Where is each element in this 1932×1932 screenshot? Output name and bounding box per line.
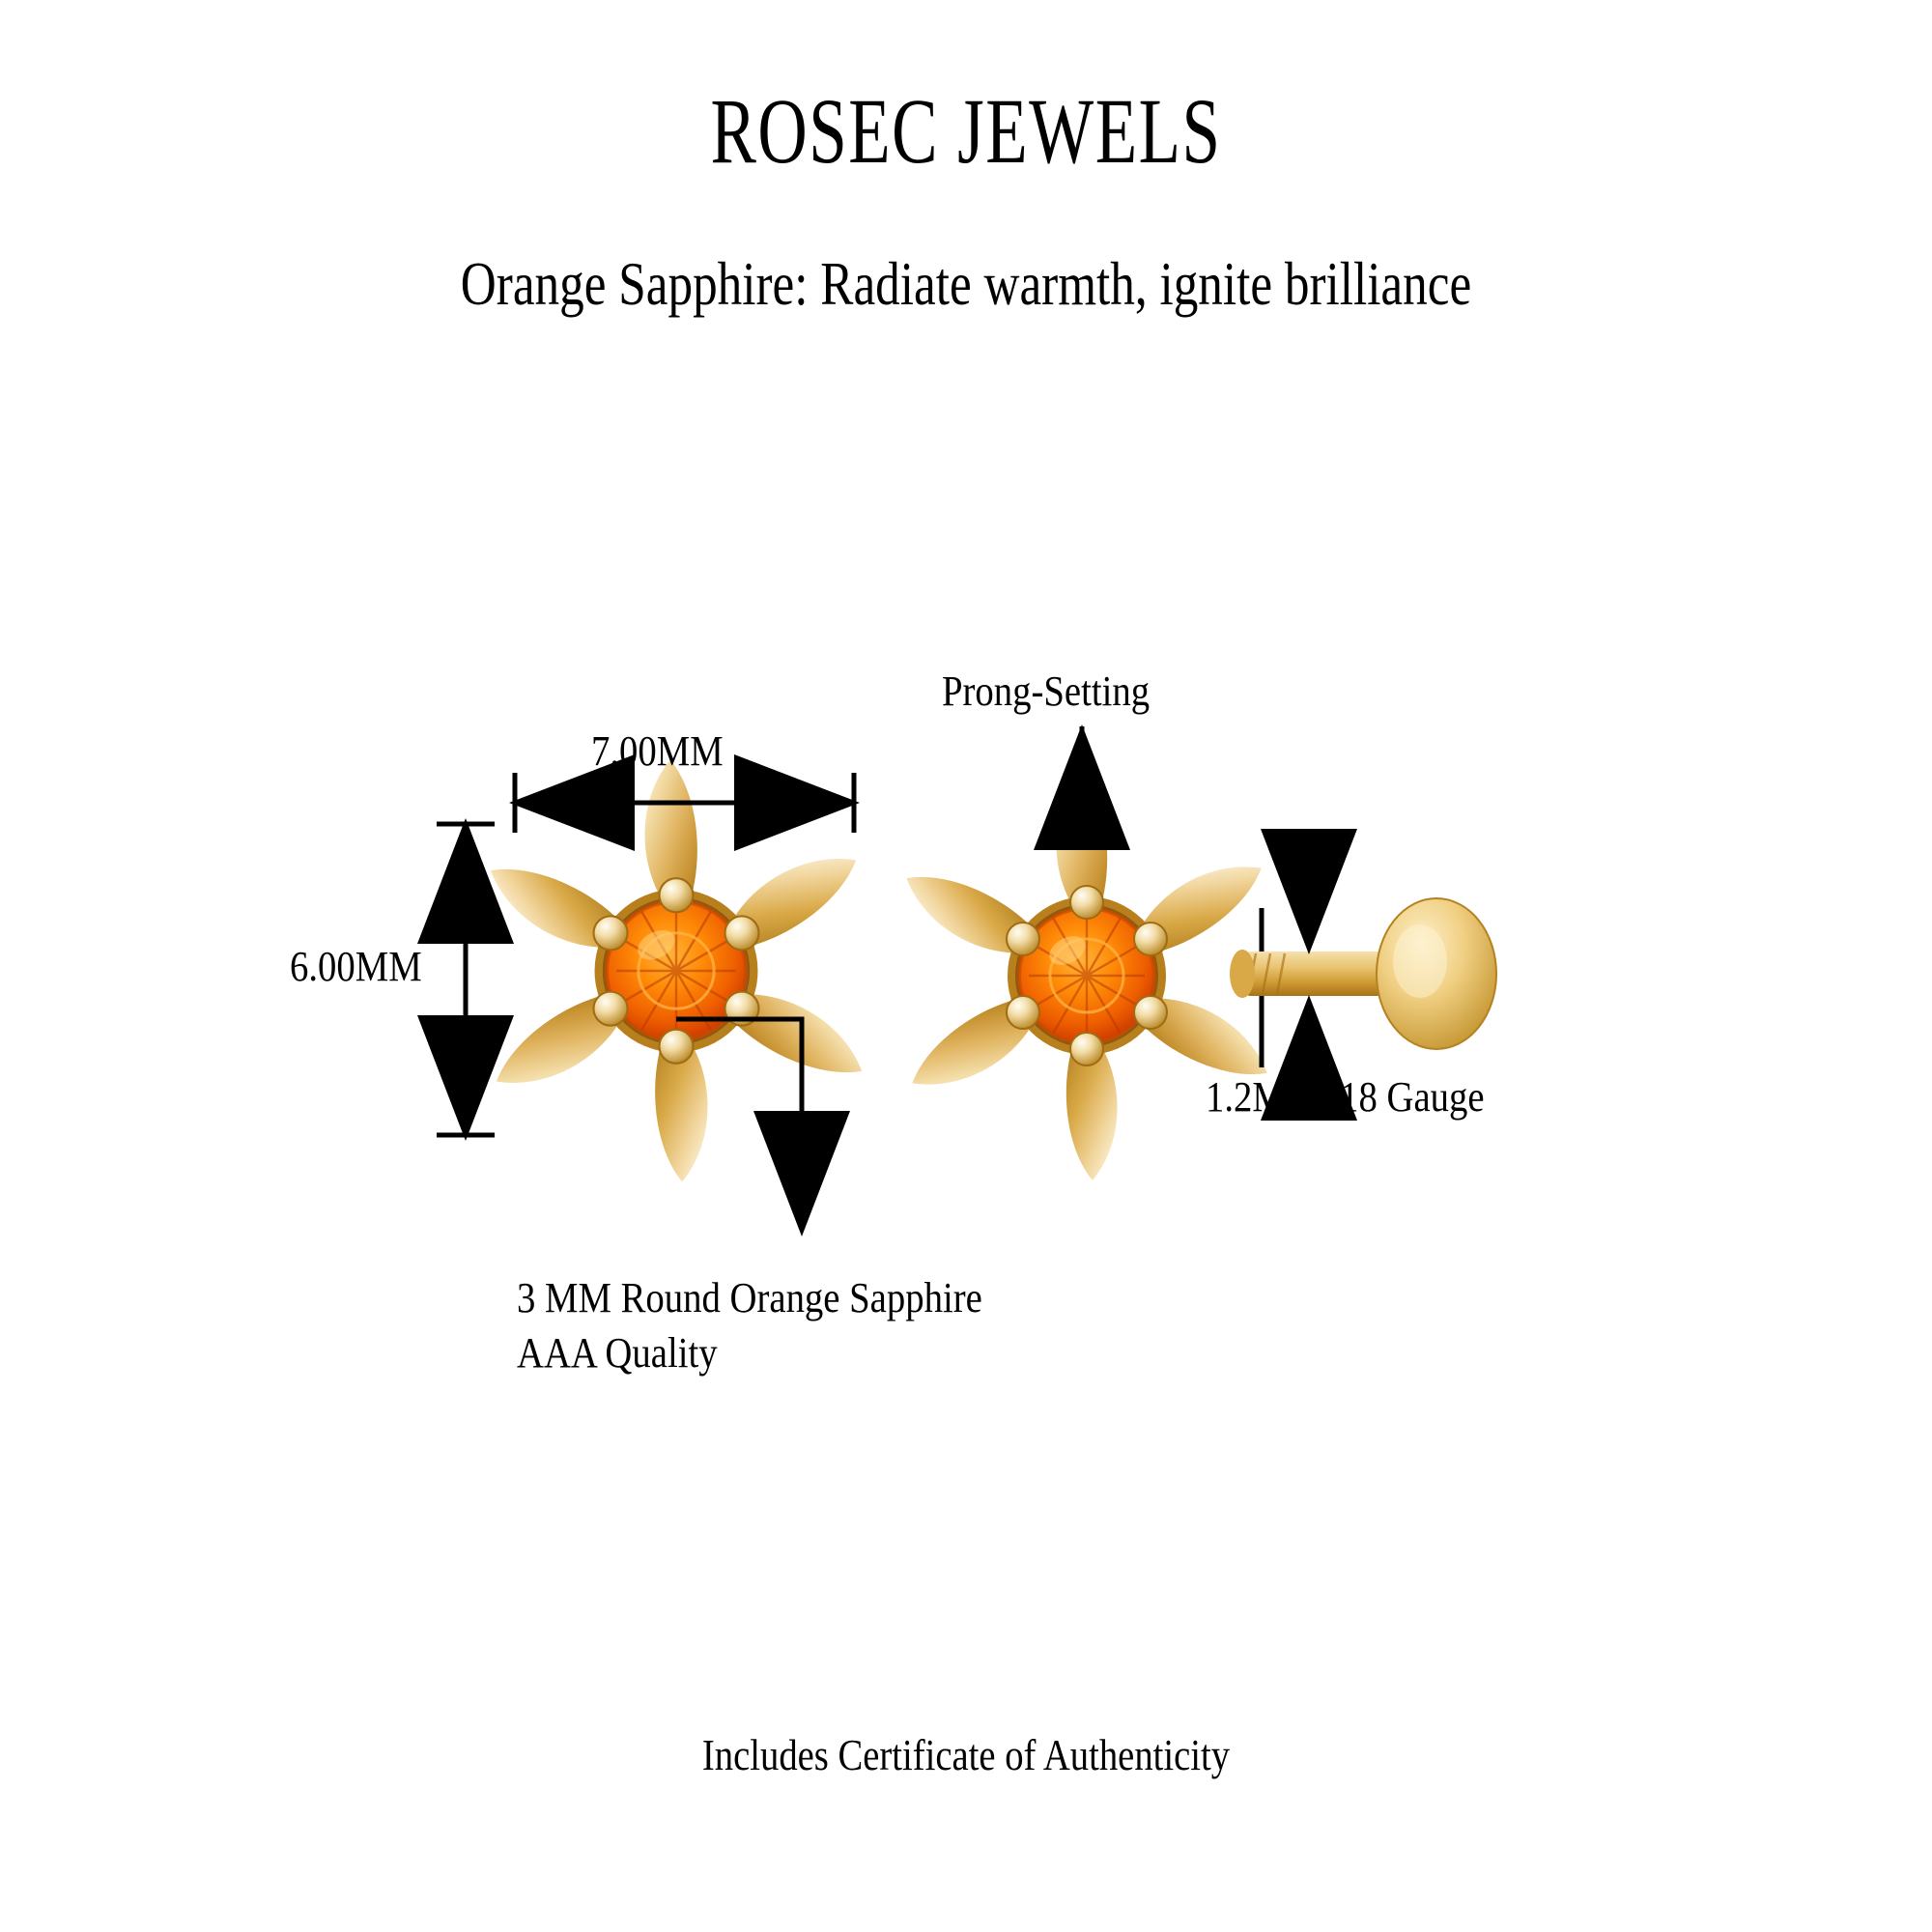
spec-sheet: ROSEC JEWELS Orange Sapphire: Radiate wa… [0,0,1932,1932]
certificate-note: Includes Certificate of Authenticity [155,1729,1777,1780]
width-dimension-label: 7.00MM [591,726,724,776]
gauge-label: 1.2MM=18 Gauge [1206,1072,1485,1122]
prong-setting-label: Prong-Setting [942,667,1150,716]
flat-back-disc [1377,898,1496,1049]
gemstone-description: 3 MM Round Orange Sapphire AAA Quality [517,1270,982,1380]
gemstone-description-line1: 3 MM Round Orange Sapphire [517,1270,982,1325]
height-dimension [437,824,495,1135]
gemstone-description-line2: AAA Quality [517,1325,982,1380]
height-dimension-label: 6.00MM [290,942,422,991]
front-view-illustration [478,760,875,1182]
